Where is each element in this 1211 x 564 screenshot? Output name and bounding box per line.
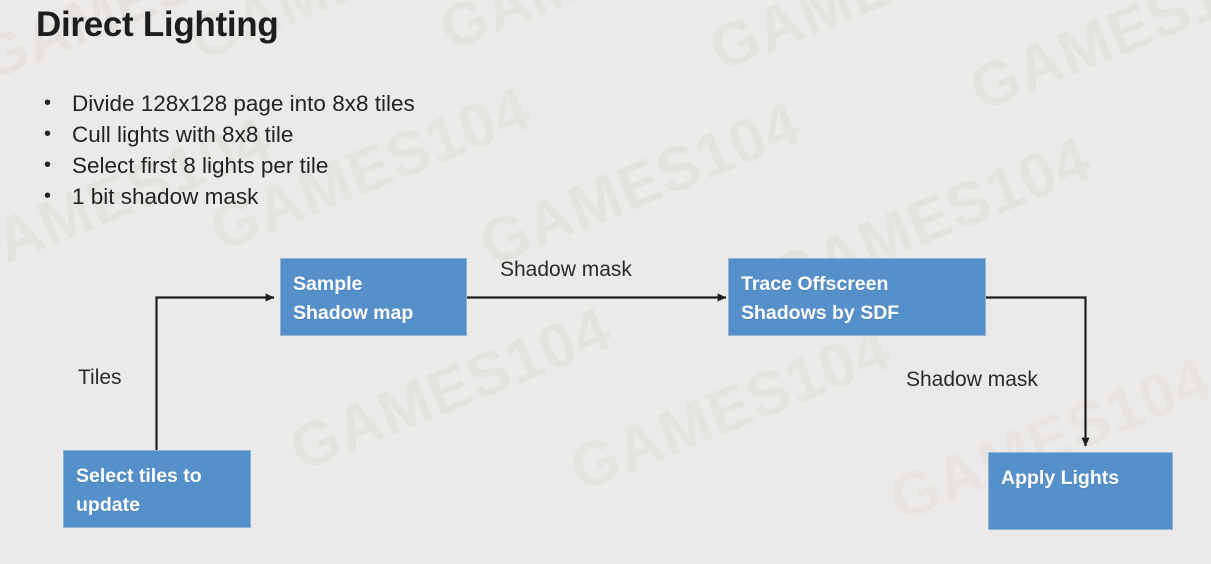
bullet-text: Divide 128x128 page into 8x8 tiles <box>72 88 415 119</box>
node-select-tiles-to-update[interactable]: Select tiles to update <box>63 450 251 528</box>
watermark-text: GAMES104 <box>430 0 760 64</box>
watermark-text: GAMES104 <box>560 313 901 506</box>
bullet-text: Cull lights with 8x8 tile <box>72 119 293 150</box>
node-line: Trace Offscreen <box>741 270 985 299</box>
bullet-text: Select first 8 lights per tile <box>72 150 328 181</box>
node-line: Shadow map <box>293 299 466 328</box>
node-line: Sample <box>293 270 466 299</box>
bullet-list: • Divide 128x128 page into 8x8 tiles • C… <box>44 88 415 212</box>
page-title: Direct Lighting <box>36 5 278 45</box>
edge-label-shadow-mask-top: Shadow mask <box>500 258 632 282</box>
node-line: update <box>76 491 250 520</box>
node-line: Shadows by SDF <box>741 299 985 328</box>
watermark-text: GAMES104 <box>960 0 1211 126</box>
bullet-marker-icon: • <box>44 150 72 181</box>
edge-label-tiles: Tiles <box>78 366 122 390</box>
node-sample-shadow-map[interactable]: Sample Shadow map <box>280 258 467 336</box>
node-line: Select tiles to <box>76 462 250 491</box>
node-trace-offscreen-shadows-by-sdf[interactable]: Trace Offscreen Shadows by SDF <box>728 258 986 336</box>
node-apply-lights[interactable]: Apply Lights <box>988 452 1173 530</box>
bullet-item: • Cull lights with 8x8 tile <box>44 119 415 150</box>
bullet-item: • 1 bit shadow mask <box>44 181 415 212</box>
bullet-text: 1 bit shadow mask <box>72 181 258 212</box>
bullet-marker-icon: • <box>44 119 72 150</box>
bullet-marker-icon: • <box>44 88 72 119</box>
edge-label-shadow-mask-right: Shadow mask <box>906 368 1038 392</box>
bullet-marker-icon: • <box>44 181 72 212</box>
node-line: Apply Lights <box>1001 464 1172 493</box>
bullet-item: • Divide 128x128 page into 8x8 tiles <box>44 88 415 119</box>
watermark-text: GAMES104 <box>700 0 1041 86</box>
bullet-item: • Select first 8 lights per tile <box>44 150 415 181</box>
watermark-text: GAMES104 <box>470 88 811 281</box>
slide-canvas: GAMES104GAMES104GAMES104GAMES104GAMES104… <box>0 0 1211 564</box>
edge-select-tiles-to-sample-shadow-map <box>157 298 275 451</box>
